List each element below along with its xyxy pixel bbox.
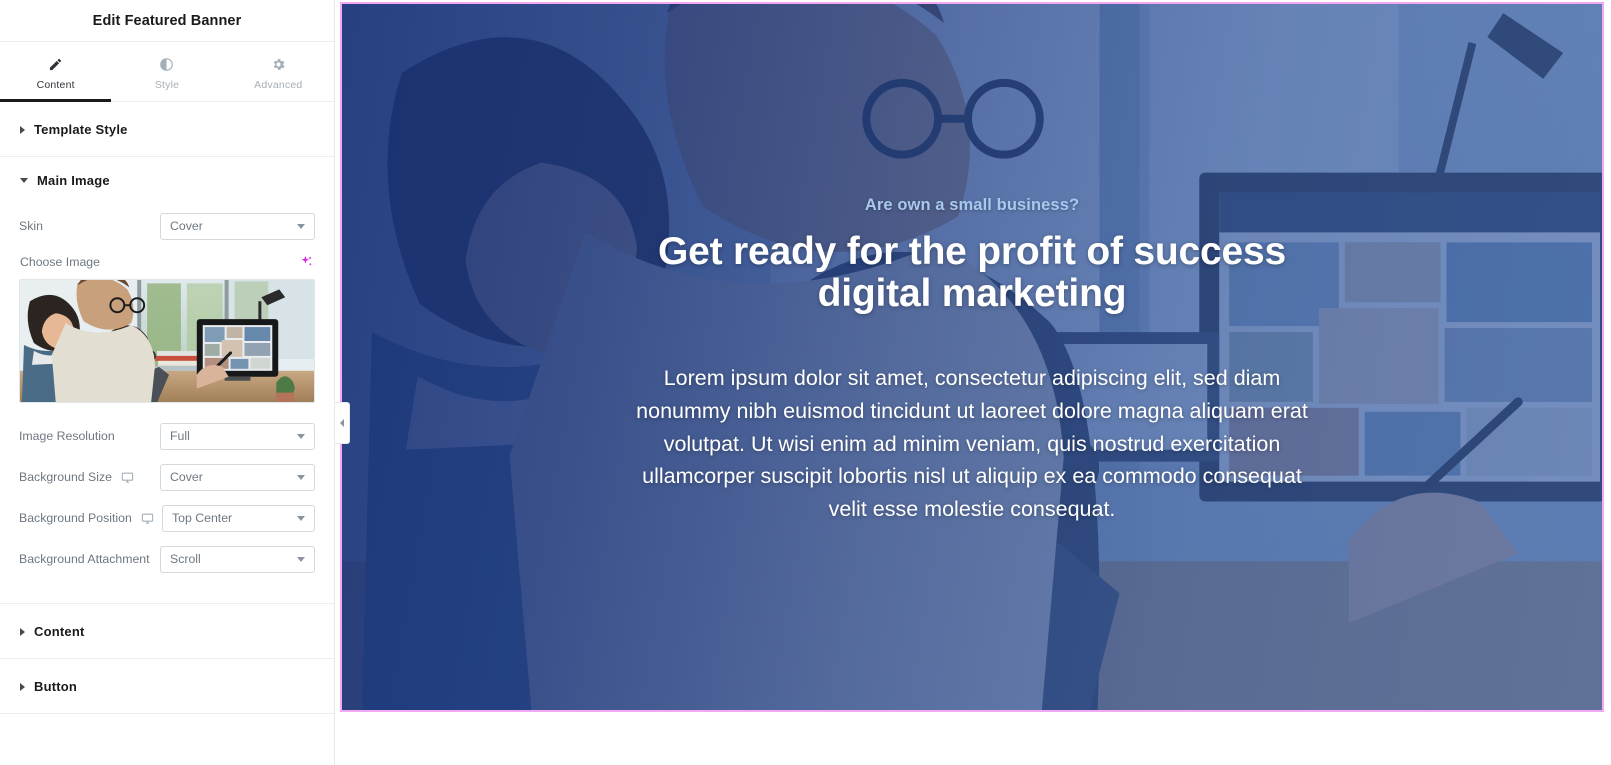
background-attachment-value: Scroll [170, 552, 201, 566]
chevron-right-icon [20, 683, 25, 691]
section-content-label: Content [34, 624, 85, 639]
preview-canvas: Are own a small business? Get ready for … [335, 0, 1611, 765]
image-resolution-label: Image Resolution [19, 429, 160, 443]
banner-title: Get ready for the profit of success digi… [622, 231, 1322, 315]
tab-advanced-label: Advanced [254, 79, 302, 91]
chevron-left-icon [340, 419, 344, 427]
panel-title: Edit Featured Banner [0, 0, 334, 41]
featured-banner-widget[interactable]: Are own a small business? Get ready for … [340, 2, 1604, 712]
banner-content: Are own a small business? Get ready for … [342, 4, 1602, 710]
chevron-down-icon [20, 178, 28, 183]
control-background-attachment: Background Attachment Scroll [19, 540, 315, 578]
chevron-right-icon [20, 126, 25, 134]
section-main-image-label: Main Image [37, 173, 110, 188]
control-background-size: Background Size Cover [19, 458, 315, 496]
tab-content-label: Content [37, 79, 75, 91]
background-position-text: Background Position [19, 511, 132, 525]
pencil-icon [48, 57, 63, 72]
panel-tabs: Content Style Advanced [0, 41, 334, 102]
choose-image-label: Choose Image [20, 255, 100, 269]
skin-label: Skin [19, 219, 160, 233]
background-size-label: Background Size [19, 470, 160, 484]
background-size-text: Background Size [19, 470, 112, 484]
control-skin: Skin Cover [19, 207, 315, 245]
tab-style-label: Style [155, 79, 179, 91]
thumbnail-photo [20, 280, 314, 402]
background-position-value: Top Center [172, 511, 232, 525]
control-image-resolution: Image Resolution Full [19, 417, 315, 455]
banner: Are own a small business? Get ready for … [342, 4, 1602, 710]
control-choose-image: Choose Image [19, 248, 315, 279]
section-template-style: Template Style [0, 102, 334, 157]
section-button: Button [0, 659, 334, 714]
desktop-icon[interactable] [121, 471, 134, 484]
skin-select[interactable]: Cover [160, 213, 315, 240]
elementor-editor: Edit Featured Banner Content Style [0, 0, 1611, 765]
gear-icon [271, 57, 286, 72]
background-size-select[interactable]: Cover [160, 464, 315, 491]
section-main-image-body: Skin Cover Choose Image [0, 203, 334, 603]
image-resolution-select[interactable]: Full [160, 423, 315, 450]
background-position-label: Background Position [19, 511, 162, 525]
background-size-value: Cover [170, 470, 203, 484]
chevron-right-icon [20, 628, 25, 636]
desktop-icon[interactable] [141, 512, 154, 525]
skin-value: Cover [170, 219, 203, 233]
section-button-header[interactable]: Button [0, 659, 334, 713]
section-template-style-header[interactable]: Template Style [0, 102, 334, 156]
section-main-image: Main Image Skin Cover Choose Image [0, 157, 334, 604]
tab-content[interactable]: Content [0, 42, 111, 101]
contrast-icon [159, 57, 174, 72]
section-template-style-label: Template Style [34, 122, 128, 137]
background-attachment-select[interactable]: Scroll [160, 546, 315, 573]
background-position-select[interactable]: Top Center [162, 505, 315, 532]
section-main-image-header[interactable]: Main Image [0, 157, 334, 203]
sparkle-icon[interactable] [298, 254, 314, 270]
image-thumbnail[interactable] [19, 279, 315, 403]
banner-subtitle: Are own a small business? [865, 196, 1079, 215]
widget-settings-panel: Edit Featured Banner Content Style [0, 0, 335, 765]
image-resolution-value: Full [170, 429, 190, 443]
section-button-label: Button [34, 679, 77, 694]
tab-style[interactable]: Style [111, 42, 222, 101]
section-content-header[interactable]: Content [0, 604, 334, 658]
background-attachment-label: Background Attachment [19, 552, 160, 566]
tab-advanced[interactable]: Advanced [223, 42, 334, 101]
banner-body-text: Lorem ipsum dolor sit amet, consectetur … [632, 362, 1312, 525]
panel-collapse-handle[interactable] [335, 402, 350, 444]
control-background-position: Background Position Top Center [19, 499, 315, 537]
section-content: Content [0, 604, 334, 659]
